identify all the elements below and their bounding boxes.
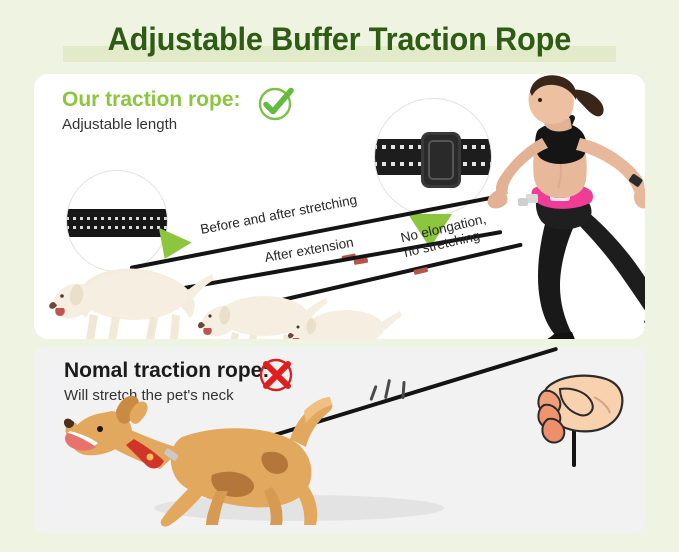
strap-icon <box>66 209 168 237</box>
normal-traction-rope-panel: Nomal traction rope: Will stretch the pe… <box>34 347 645 533</box>
dog-illustration <box>46 240 214 339</box>
our-traction-rope-panel: Our traction rope: Adjustable length <box>34 74 645 339</box>
page-title: Adjustable Buffer Traction Rope <box>108 21 571 58</box>
leash-reflector <box>354 258 369 265</box>
normal-rope-heading: Nomal traction rope: <box>64 359 269 383</box>
woman-running-photo <box>454 74 645 339</box>
dog-illustration <box>282 286 402 339</box>
our-rope-heading: Our traction rope: <box>62 88 241 112</box>
cartoon-dog-pulled <box>64 391 394 531</box>
page-title-area: Adjustable Buffer Traction Rope <box>0 14 679 64</box>
belt-buckle-inner <box>428 140 454 180</box>
infographic-page: Adjustable Buffer Traction Rope Our trac… <box>0 0 679 552</box>
our-rope-subheading: Adjustable length <box>62 116 177 133</box>
cross-circle-icon <box>256 353 298 395</box>
gripping-fist <box>502 361 632 481</box>
check-circle-icon <box>256 82 298 124</box>
